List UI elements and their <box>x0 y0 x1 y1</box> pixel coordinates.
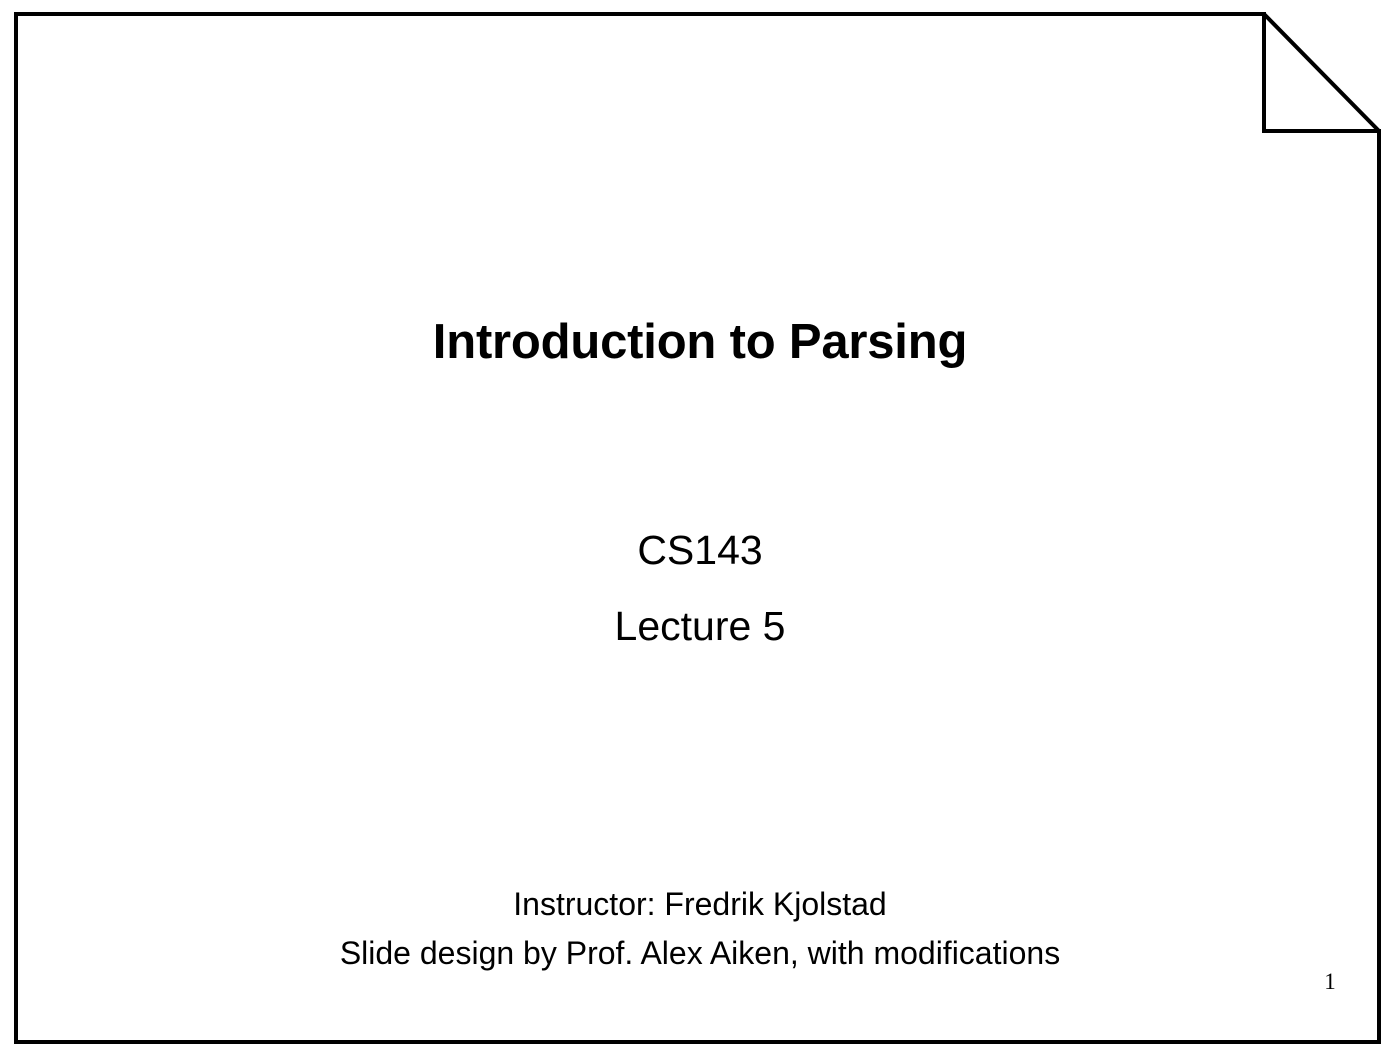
credits-block: Instructor: Fredrik Kjolstad Slide desig… <box>0 880 1400 978</box>
corner-fold-diagonal <box>1264 14 1379 131</box>
page-number: 1 <box>1310 969 1350 995</box>
credit-line-instructor: Instructor: Fredrik Kjolstad <box>0 880 1400 929</box>
slide-canvas: Introduction to Parsing CS143 Lecture 5 … <box>0 0 1400 1060</box>
subtitle-block: CS143 Lecture 5 <box>0 512 1400 664</box>
credit-line-slide-design: Slide design by Prof. Alex Aiken, with m… <box>0 929 1400 978</box>
subtitle-line-lecture: Lecture 5 <box>0 588 1400 664</box>
subtitle-line-course: CS143 <box>0 512 1400 588</box>
page-title: Introduction to Parsing <box>0 313 1400 371</box>
